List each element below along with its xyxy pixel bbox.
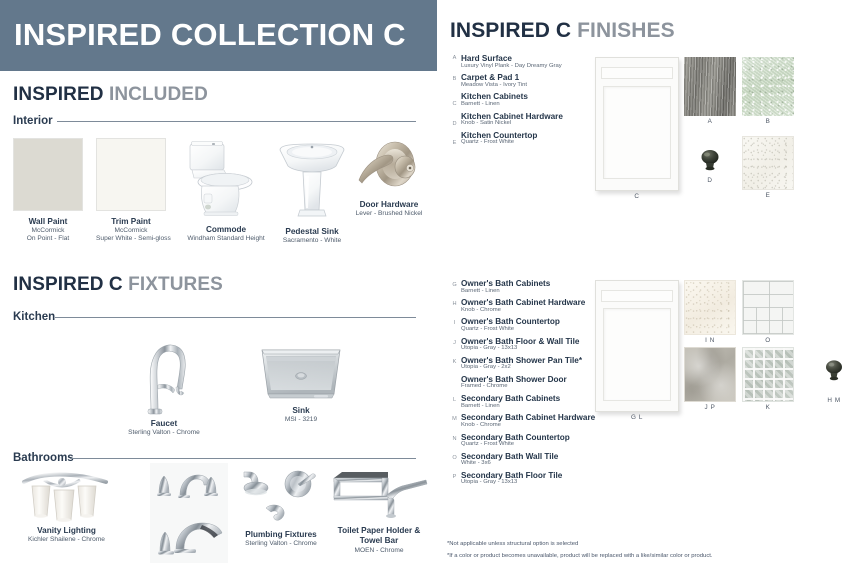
product-commode: Commode Windham Standard Height [182,136,270,243]
product-sub-2: On Point - Flat [13,235,83,243]
finish-letter: C [449,101,460,107]
swatch-label: H M [817,397,851,404]
finish-letter: E [449,140,460,146]
floor-tile-illustration [684,347,736,402]
finish-row: O Secondary Bath Wall Tile White - 3x6 [449,453,629,472]
mosaic-tile-illustration [742,347,794,402]
swatch-kitchen-countertop: E [742,136,794,200]
faucet-illustration [124,327,204,417]
swatch-label: A [684,118,736,125]
door-lever-icon [343,136,435,196]
swatch-label: G L [595,414,679,421]
product-sub-1: McCormick [13,227,83,235]
commode-illustration [182,136,270,220]
product-name: Wall Paint [13,217,83,227]
door-panel [603,86,670,180]
pedestal-sink-illustration [272,136,352,222]
shower-trim-illustration [236,466,326,528]
finish-letter: J [449,340,460,346]
product-sub-1: Sterling Valton - Chrome [124,429,204,437]
swatch-label: I N [684,337,736,344]
vanity-light-illustration [14,466,119,524]
product-sub-1: MSI - 3219 [258,416,344,424]
door-rail [601,290,673,302]
product-sub-1: Kichler Shailene - Chrome [14,536,119,544]
finishes-title-word-1: INSPIRED C [450,19,571,42]
swatch-label: D [690,177,730,184]
product-name: Pedestal Sink [272,227,352,237]
swatch-label: O [742,337,794,344]
finish-letter: A [449,55,460,61]
finish-letter: P [449,474,460,480]
swatch-cabinet-knob-nickel: D [690,147,730,199]
faucet-icon [124,327,204,417]
section-heading-included: INSPIRED INCLUDED [13,84,208,106]
product-name: Faucet [124,419,204,429]
towel-bar-illustration [326,466,432,524]
heading-word-2: FIXTURES [128,274,223,295]
product-vanity-lighting: Vanity Lighting Kichler Shailene - Chrom… [14,466,119,544]
subsection-label-interior: Interior [13,115,53,127]
product-trim-paint: Trim Paint McCormick Super White - Semi-… [96,138,166,244]
finish-sub: Meadow Vista - Ivory Tint [461,82,527,88]
product-sub-1: Lever - Brushed Nickel [343,210,435,218]
swatch-kitchen-cabinet: C [595,57,679,199]
product-kitchen-sink: Sink MSI - 3219 [258,340,344,424]
footnote-1: *Not applicable unless structural option… [447,539,578,550]
swatch-bath-floor-tile: J P [684,347,736,415]
swatch-bath-cabinet: G L [595,280,679,422]
finishes-title: INSPIRED C FINISHES [450,19,675,43]
subsection-label-bathrooms: Bathrooms [13,452,74,464]
finish-sub: Knob - Chrome [461,422,501,428]
cabinet-door-illustration [595,280,679,412]
finish-row: P Secondary Bath Floor Tile Utopia - Gra… [449,472,629,491]
subsection-label-kitchen: Kitchen [13,311,55,323]
divider-interior [57,121,416,122]
finish-sub: Framed - Chrome [461,383,507,389]
finish-sub: Utopia - Gray - 2x2 [461,364,511,370]
right-column: INSPIRED C FINISHES A Hard Surface Luxur… [437,0,853,569]
product-name: Plumbing Fixtures [236,530,326,540]
finish-sub: Quartz - Frost White [461,441,514,447]
swatch-bath-countertop: I N [684,280,736,348]
tub-faucet-icon [150,463,228,563]
swatch-label: E [742,192,794,199]
quartz-frost-illustration [742,136,794,190]
swatch-label: B [742,118,794,125]
product-name: Commode [182,225,270,235]
finish-letter: I [449,320,460,326]
finish-sub: Barnett - Linen [461,288,500,294]
wood-plank-illustration [684,57,736,116]
knob-nickel-illustration [690,147,730,173]
finish-sub: Quartz - Frost White [461,326,514,332]
title-bar: INSPIRED COLLECTION C [0,0,437,71]
product-name: Door Hardware [343,200,435,210]
product-sub-1: Sterling Valton - Chrome [236,540,326,548]
finish-letter: M [449,416,460,422]
product-name: Trim Paint [96,217,166,227]
shower-trim-icon [236,466,326,528]
finish-sub: Quartz - Frost White [461,139,514,145]
swatch-hard-surface: A [684,57,736,127]
finish-letter: N [449,436,460,442]
product-tub-faucets [150,463,228,563]
product-plumbing-fixtures: Plumbing Fixtures Sterling Valton - Chro… [236,466,326,548]
heading-word-1: INSPIRED [13,84,104,105]
finish-sub: Barnett - Linen [461,101,500,107]
knob-chrome-illustration [817,357,851,383]
heading-word-2: INCLUDED [109,84,208,105]
door-rail [601,67,673,79]
finish-sub: Utopia - Gray - 13x13 [461,479,517,485]
product-towel-bar: Toilet Paper Holder & Towel Bar MOEN - C… [326,466,432,555]
carpet-illustration [742,57,794,116]
finish-sub: Knob - Satin Nickel [461,120,511,126]
wall-paint-swatch [13,138,83,211]
divider-bathrooms [70,458,416,459]
finish-sub: Utopia - Gray - 13x13 [461,345,517,351]
swatch-bath-knob-chrome: H M [817,357,851,415]
product-sub-1: Sacramento - White [272,237,352,245]
section-heading-fixtures: INSPIRED C FIXTURES [13,274,223,296]
sink-illustration [258,340,344,402]
page-title: INSPIRED COLLECTION C [14,17,406,53]
sink-icon [258,340,344,402]
finish-letter: O [449,455,460,461]
finish-sub: White - 3x6 [461,460,491,466]
commode-icon [182,136,270,220]
swatch-carpet: B [742,57,794,127]
heading-word-1: INSPIRED C [13,274,123,295]
swatch-label: C [595,193,679,200]
swatch-label: K [742,404,794,411]
door-lever-illustration [343,136,435,196]
vanity-light-icon [14,466,119,524]
finish-row: N Secondary Bath Countertop Quartz - Fro… [449,434,629,453]
product-name: Vanity Lighting [14,526,119,536]
finish-letter: H [449,301,460,307]
product-name: Sink [258,406,344,416]
product-wall-paint: Wall Paint McCormick On Point - Flat [13,138,83,244]
product-pedestal-sink: Pedestal Sink Sacramento - White [272,136,352,245]
knob-icon [690,147,730,173]
finish-letter: G [449,282,460,288]
finishes-title-word-2: FINISHES [577,19,675,42]
product-name: Toilet Paper Holder & Towel Bar [326,526,432,547]
product-sub-1: Windham Standard Height [182,235,270,243]
cabinet-door-illustration [595,57,679,191]
product-sub-2: Super White - Semi-gloss [96,235,166,243]
finish-sub: Knob - Chrome [461,307,501,313]
subway-tile-illustration [742,280,794,335]
quartz-cream-illustration [684,280,736,335]
finish-letter: B [449,76,460,82]
knob-icon [817,357,851,383]
finish-sub: Barnett - Linen [461,403,500,409]
product-door-hardware: Door Hardware Lever - Brushed Nickel [343,136,435,218]
product-sub-1: McCormick [96,227,166,235]
finish-letter: L [449,397,460,403]
swatch-secondary-wall-tile: O [742,280,794,348]
finish-letter: K [449,359,460,365]
tub-faucet-illustration [150,463,228,563]
swatch-shower-pan-tile: K [742,347,794,415]
footnote-2: *If a color or product becomes unavailab… [447,551,713,562]
swatch-label: J P [684,404,736,411]
finish-sub: Luxury Vinyl Plank - Day Dreamy Gray [461,63,562,69]
product-sub-1: MOEN - Chrome [326,547,432,555]
finish-letter: D [449,121,460,127]
door-panel [603,308,670,400]
trim-paint-swatch [96,138,166,211]
product-faucet: Faucet Sterling Valton - Chrome [124,327,204,437]
collection-sheet: INSPIRED COLLECTION C INSPIRED INCLUDED … [0,0,853,569]
divider-kitchen [55,317,416,318]
pedestal-sink-icon [272,136,352,222]
towel-bar-icon [326,466,432,524]
left-column: INSPIRED COLLECTION C INSPIRED INCLUDED … [0,0,437,569]
